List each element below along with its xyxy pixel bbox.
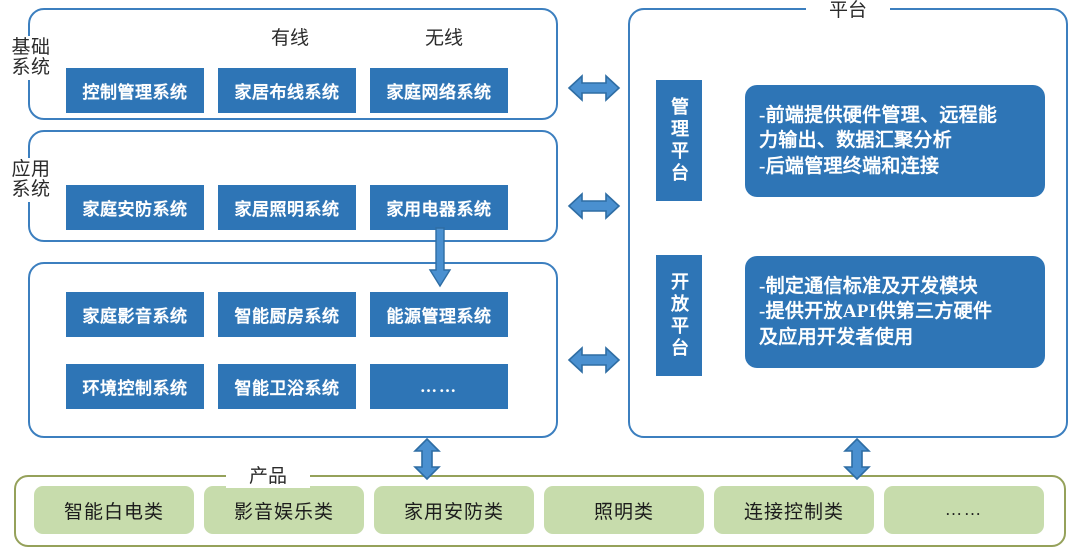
diagram-canvas: 基础 系统 有线 无线 控制管理系统 家居布线系统 家庭网络系统 应用 系统 家…	[0, 0, 1080, 555]
box-control-management-system[interactable]: 控制管理系统	[66, 68, 204, 113]
arrow-application-to-platform	[568, 188, 620, 224]
label-platform: 平台	[806, 0, 890, 22]
card-open-line-2: -提供开放API供第三方硬件	[759, 299, 1031, 324]
card-management-line-2: 力输出、数据汇聚分析	[759, 128, 1031, 153]
label-management-platform: 管理平台	[656, 80, 702, 201]
box-energy-management-system[interactable]: 能源管理系统	[370, 292, 508, 337]
label-open-platform: 开放平台	[656, 255, 702, 376]
box-home-lighting-system[interactable]: 家居照明系统	[218, 185, 356, 230]
box-environment-control-system[interactable]: 环境控制系统	[66, 364, 204, 409]
label-basic-system: 基础 系统	[2, 36, 60, 80]
card-management-line-1: -前端提供硬件管理、远程能	[759, 103, 1031, 128]
card-management-line-3: -后端管理终端和连接	[759, 154, 1031, 179]
panel-extended-system	[28, 262, 558, 438]
label-basic-system-line1: 基础	[3, 38, 59, 58]
box-home-wiring-system[interactable]: 家居布线系统	[218, 68, 356, 113]
box-products-more[interactable]: ……	[884, 486, 1044, 534]
label-wired: 有线	[252, 28, 328, 50]
arrow-extended-to-products	[410, 438, 444, 480]
box-smart-bathroom-system[interactable]: 智能卫浴系统	[218, 364, 356, 409]
label-application-system-line1: 应用	[3, 160, 59, 180]
box-home-security-system[interactable]: 家庭安防系统	[66, 185, 204, 230]
box-smart-kitchen-system[interactable]: 智能厨房系统	[218, 292, 356, 337]
label-application-system-line2: 系统	[3, 180, 59, 200]
box-smart-white-appliance[interactable]: 智能白电类	[34, 486, 194, 534]
arrow-application-to-extended	[429, 228, 451, 288]
label-basic-system-line2: 系统	[3, 58, 59, 78]
arrow-basic-to-platform	[568, 70, 620, 106]
box-lighting-product[interactable]: 照明类	[544, 486, 704, 534]
label-wireless: 无线	[406, 28, 482, 50]
card-open-platform: -制定通信标准及开发模块 -提供开放API供第三方硬件 及应用开发者使用	[745, 256, 1045, 368]
card-management-platform: -前端提供硬件管理、远程能 力输出、数据汇聚分析 -后端管理终端和连接	[745, 85, 1045, 197]
box-extended-more[interactable]: ……	[370, 364, 508, 409]
label-application-system: 应用 系统	[2, 158, 60, 202]
arrow-platform-to-products	[840, 438, 874, 480]
box-connection-control[interactable]: 连接控制类	[714, 486, 874, 534]
box-av-entertainment[interactable]: 影音娱乐类	[204, 486, 364, 534]
arrow-extended-to-platform	[568, 342, 620, 378]
card-open-line-1: -制定通信标准及开发模块	[759, 274, 1031, 299]
box-home-security-product[interactable]: 家用安防类	[374, 486, 534, 534]
box-home-network-system[interactable]: 家庭网络系统	[370, 68, 508, 113]
label-products: 产品	[226, 466, 310, 488]
box-home-av-system[interactable]: 家庭影音系统	[66, 292, 204, 337]
box-home-appliance-system[interactable]: 家用电器系统	[370, 185, 508, 230]
card-open-line-3: 及应用开发者使用	[759, 325, 1031, 350]
